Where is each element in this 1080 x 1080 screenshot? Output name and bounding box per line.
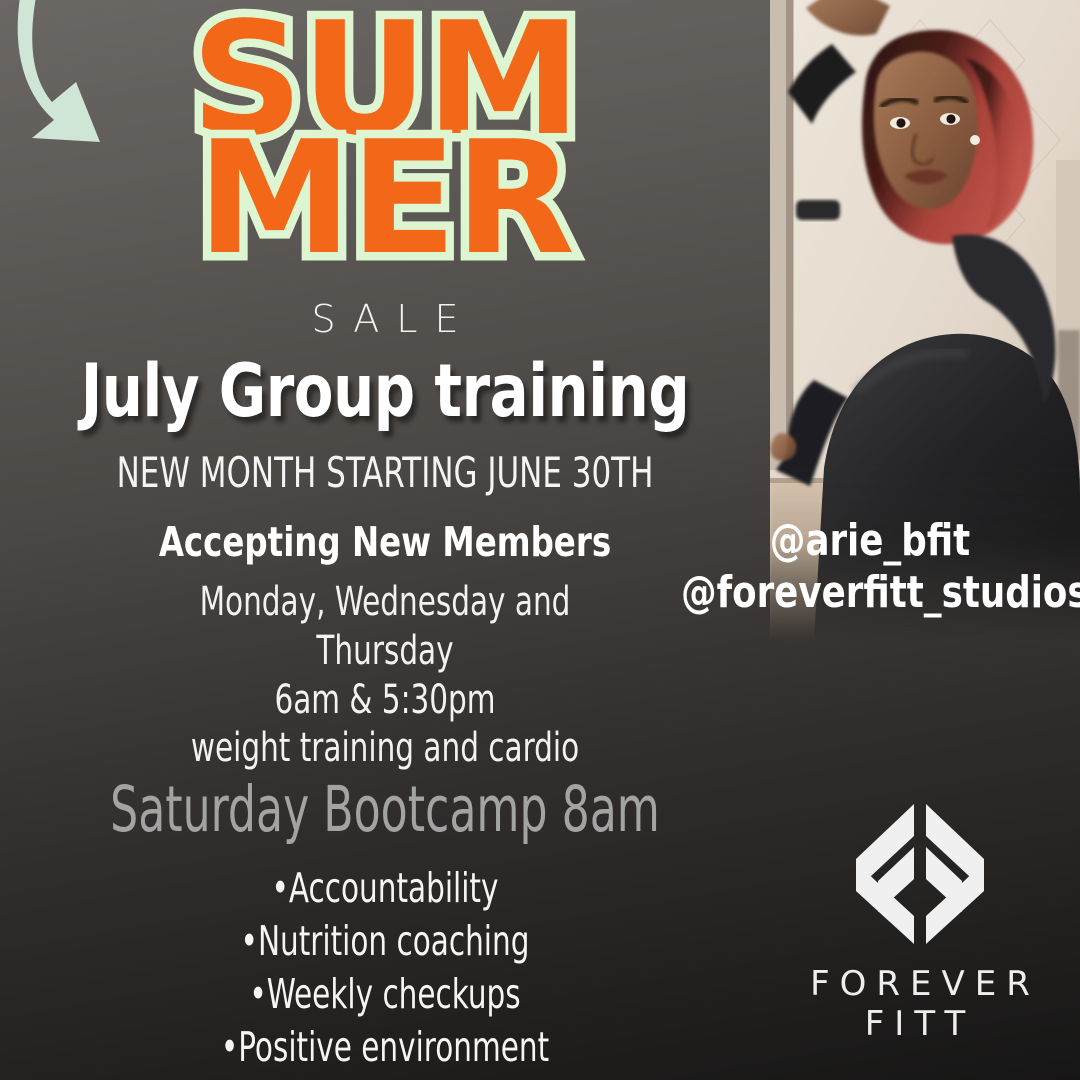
benefit-item: •Nutrition coaching <box>77 915 693 968</box>
social-handles: @arie_bfit @foreverfitt_studios <box>681 515 1059 619</box>
forever-fitt-diamond-chevron-icon <box>831 800 1009 948</box>
instagram-handle-studio[interactable]: @foreverfitt_studios <box>681 567 1059 619</box>
hero-line-2: MER <box>0 137 770 260</box>
saturday-bootcamp-text: Saturday Bootcamp 8am <box>85 778 686 841</box>
schedule-times: 6am & 5:30pm <box>69 676 700 725</box>
schedule-focus: weight training and cardio <box>69 724 700 773</box>
schedule-days-line-1: Monday, Wednesday and <box>69 578 700 627</box>
hero-title-block: SUM MER <box>0 18 770 260</box>
schedule-block: Monday, Wednesday and Thursday 6am & 5:3… <box>69 578 700 773</box>
benefit-item: •Positive environment <box>77 1021 693 1074</box>
accepting-members-text: Accepting New Members <box>46 518 724 566</box>
offer-subtitle: NEW MONTH STARTING JUNE 30TH <box>69 452 700 494</box>
offer-title: July Group training <box>46 355 724 428</box>
benefit-item: •Accountability <box>77 862 693 915</box>
schedule-days-line-2: Thursday <box>69 627 700 676</box>
brand-logo-block: FOREVER FITT <box>770 800 1070 1044</box>
summer-sale-poster: SUM MER SALE July Group training NEW MON… <box>0 0 1080 1080</box>
instagram-handle-personal[interactable]: @arie_bfit <box>681 515 1059 567</box>
benefits-list: •Accountability •Nutrition coaching •Wee… <box>77 862 693 1074</box>
benefit-item: •Weekly checkups <box>77 968 693 1021</box>
sale-label: SALE <box>0 297 770 341</box>
brand-wordmark: FOREVER FITT <box>770 964 1070 1044</box>
